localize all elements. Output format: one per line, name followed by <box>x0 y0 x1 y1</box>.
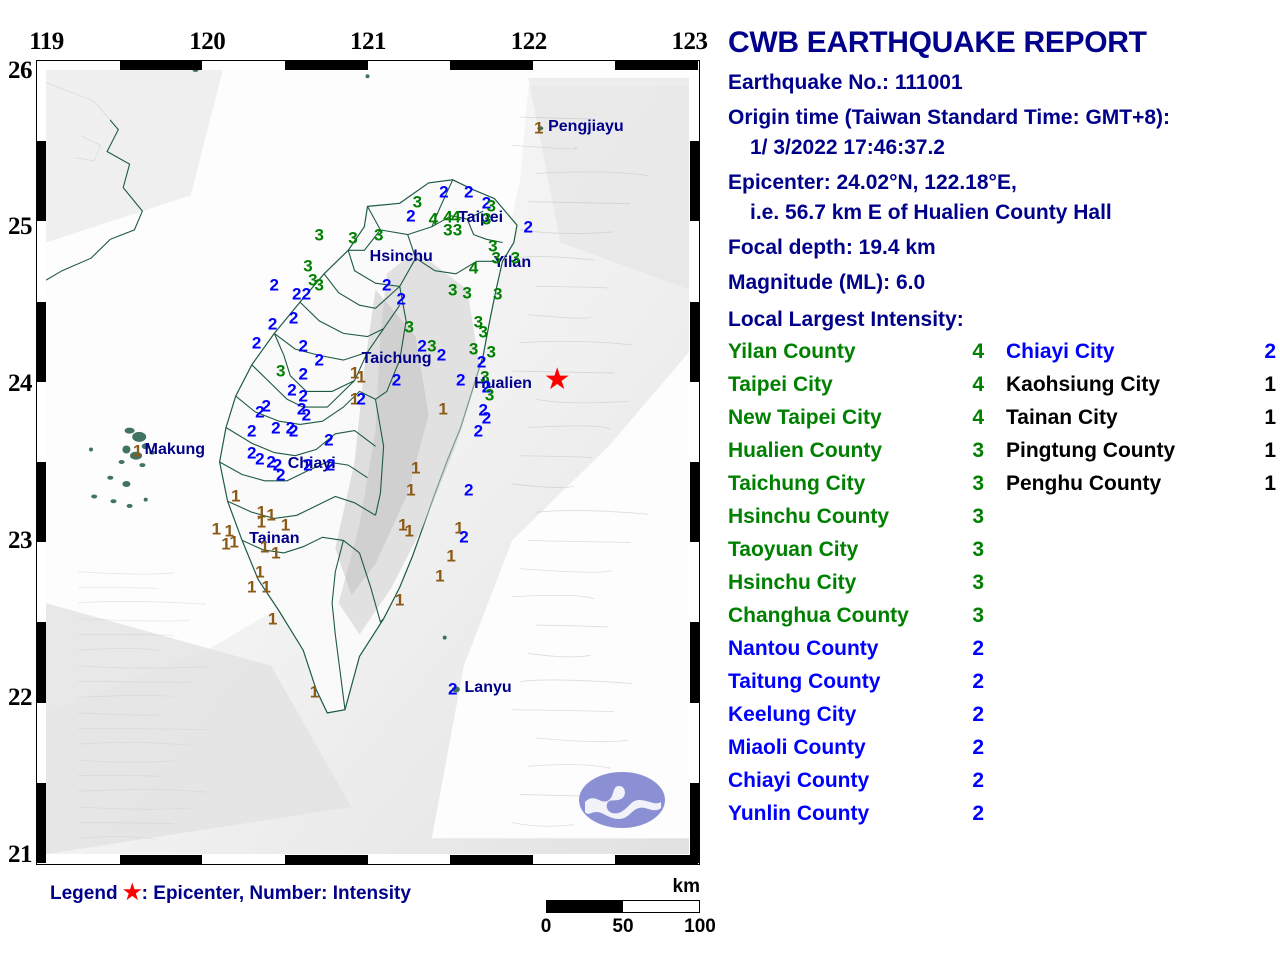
report-title: CWB EARTHQUAKE REPORT <box>728 26 1280 60</box>
x-tick-119: 119 <box>29 28 64 56</box>
band-segment <box>450 855 533 864</box>
intensity-region-name: Taoyuan City <box>728 533 858 566</box>
map-intensity-value: 2 <box>326 457 335 474</box>
band-segment <box>615 61 698 70</box>
intensity-column-right: Chiayi City2Kaohsiung City1Tainan City1P… <box>1006 335 1280 500</box>
terrain-relief <box>46 70 690 855</box>
intensity-row: Hsinchu County3 <box>728 500 988 533</box>
scale-bar-fill <box>547 901 623 912</box>
intensity-row: Hualien County3 <box>728 434 988 467</box>
place-label-makung: Makung <box>145 441 205 459</box>
place-label-lanyu: Lanyu <box>465 679 512 697</box>
intensity-region-value: 1 <box>1264 368 1280 401</box>
map-intensity-value: 2 <box>271 419 280 436</box>
map-intensity-value: 3 <box>511 250 520 267</box>
legend-description: : Epicenter, Number: Intensity <box>142 883 411 904</box>
map-intensity-value: 2 <box>417 337 426 354</box>
map-intensity-value: 2 <box>459 529 468 546</box>
intensity-region-value: 3 <box>972 566 988 599</box>
map-intensity-value: 2 <box>252 334 261 351</box>
map-intensity-value: 1 <box>257 513 266 530</box>
intensity-row: Taipei City4 <box>728 368 988 401</box>
map-intensity-value: 2 <box>448 681 457 698</box>
intensity-row: Chiayi County2 <box>728 764 988 797</box>
intensity-region-value: 2 <box>972 665 988 698</box>
intensity-region-value: 2 <box>972 632 988 665</box>
band-segment <box>690 783 699 863</box>
map-intensity-value: 2 <box>324 432 333 449</box>
map-intensity-value: 3 <box>491 250 500 267</box>
map-intensity-value: 2 <box>289 309 298 326</box>
frame-band-left <box>37 61 46 864</box>
map-intensity-value: 2 <box>276 466 285 483</box>
intensity-row: Changhua County3 <box>728 599 988 632</box>
intensity-row: Hsinchu City3 <box>728 566 988 599</box>
intensity-region-name: Yunlin County <box>728 797 869 830</box>
band-segment <box>690 141 699 221</box>
map-intensity-value: 2 <box>298 366 307 383</box>
map-intensity-value: 2 <box>474 422 483 439</box>
report-detail-lines: Earthquake No.: 111001Origin time (Taiwa… <box>728 71 1280 295</box>
map-intensity-value: 2 <box>289 422 298 439</box>
band-segment <box>37 141 46 221</box>
map-frame: PengjiayuTaipeiHsinchuYilanTaichungHuali… <box>36 60 700 865</box>
intensity-region-name: Pingtung County <box>1006 434 1175 467</box>
map-intensity-value: 3 <box>427 337 436 354</box>
map-intensity-value: 3 <box>453 221 462 238</box>
map-intensity-value: 2 <box>397 290 406 307</box>
intensity-region-name: Tainan City <box>1006 401 1118 434</box>
band-segment <box>37 302 46 382</box>
intensity-row: Pingtung County1 <box>1006 434 1280 467</box>
map-intensity-value: 3 <box>348 229 357 246</box>
map-intensity-value: 1 <box>247 579 256 596</box>
map-intensity-value: 3 <box>479 323 488 340</box>
y-tick-25: 25 <box>0 213 32 241</box>
intensity-region-value: 4 <box>972 401 988 434</box>
cwb-logo <box>579 772 665 828</box>
intensity-row: New Taipei City4 <box>728 401 988 434</box>
map-intensity-value: 1 <box>260 538 269 555</box>
intensity-row: Penghu County1 <box>1006 467 1280 500</box>
y-tick-24: 24 <box>0 370 32 398</box>
scale-unit-label: km <box>673 876 700 898</box>
map-intensity-value: 1 <box>212 521 221 538</box>
scale-tick-100: 100 <box>684 916 716 938</box>
intensity-row: Nantou County2 <box>728 632 988 665</box>
intensity-heading: Local Largest Intensity: <box>728 308 1280 332</box>
intensity-region-value: 2 <box>972 698 988 731</box>
map-intensity-value: 1 <box>229 533 238 550</box>
intensity-region-value: 3 <box>972 434 988 467</box>
scale-tick-0: 0 <box>541 916 552 938</box>
scale-tick-50: 50 <box>612 916 633 938</box>
map-intensity-value: 2 <box>298 337 307 354</box>
band-segment <box>120 855 203 864</box>
x-tick-122: 122 <box>511 28 547 56</box>
map-intensity-value: 3 <box>315 276 324 293</box>
map-intensity-value: 1 <box>446 548 455 565</box>
intensity-row: Chiayi City2 <box>1006 335 1280 368</box>
map-intensity-value: 1 <box>406 482 415 499</box>
map-intensity-value: 3 <box>448 281 457 298</box>
legend-label: Legend <box>50 883 118 904</box>
map-intensity-value: 3 <box>443 221 452 238</box>
intensity-row: Taitung County2 <box>728 665 988 698</box>
y-tick-22: 22 <box>0 684 32 712</box>
map-intensity-value: 2 <box>439 184 448 201</box>
intensity-region-value: 3 <box>972 599 988 632</box>
intensity-region-value: 3 <box>972 500 988 533</box>
map-intensity-value: 2 <box>524 218 533 235</box>
legend-star-icon: ★ <box>123 881 142 904</box>
map-intensity-value: 2 <box>270 276 279 293</box>
map-intensity-value: 2 <box>255 403 264 420</box>
intensity-region-name: Taichung City <box>728 467 865 500</box>
map-intensity-value: 1 <box>310 684 319 701</box>
report-line: i.e. 56.7 km E of Hualien County Hall <box>750 201 1280 225</box>
intensity-region-value: 3 <box>972 467 988 500</box>
map-intensity-value: 1 <box>261 579 270 596</box>
map-panel: 119120121122123 262524232221 PengjiayuTa… <box>0 0 716 960</box>
intensity-region-value: 1 <box>1264 401 1280 434</box>
intensity-row: Yilan County4 <box>728 335 988 368</box>
map-intensity-value: 1 <box>395 591 404 608</box>
y-tick-26: 26 <box>0 57 32 85</box>
map-intensity-value: 2 <box>437 347 446 364</box>
intensity-region-name: Chiayi City <box>1006 335 1115 368</box>
map-intensity-value: 3 <box>493 286 502 303</box>
map-intensity-value: 2 <box>356 391 365 408</box>
intensity-region-value: 4 <box>972 335 988 368</box>
intensity-region-value: 2 <box>972 764 988 797</box>
band-segment <box>285 855 368 864</box>
epicenter-star-icon: ★ <box>544 365 571 395</box>
band-segment <box>285 61 368 70</box>
report-line: Magnitude (ML): 6.0 <box>728 271 1280 295</box>
map-intensity-value: 2 <box>303 457 312 474</box>
intensity-region-name: Nantou County <box>728 632 878 665</box>
intensity-row: Taichung City3 <box>728 467 988 500</box>
map-intensity-value: 2 <box>247 422 256 439</box>
intensity-region-name: Hsinchu County <box>728 500 889 533</box>
map-intensity-value: 3 <box>315 226 324 243</box>
scale-bar-graphic <box>546 900 700 913</box>
map-intensity-value: 3 <box>405 319 414 336</box>
intensity-region-name: Yilan County <box>728 335 856 368</box>
intensity-region-value: 2 <box>972 731 988 764</box>
intensity-region-name: Taipei City <box>728 368 833 401</box>
map-intensity-value: 4 <box>429 210 438 227</box>
map-intensity-value: 1 <box>435 568 444 585</box>
intensity-region-value: 1 <box>1264 467 1280 500</box>
map-intensity-value: 3 <box>462 284 471 301</box>
intensity-row: Yunlin County2 <box>728 797 988 830</box>
intensity-region-name: Changhua County <box>728 599 909 632</box>
intensity-region-value: 4 <box>972 368 988 401</box>
legend-text: Legend ★: Epicenter, Number: Intensity <box>50 880 411 905</box>
map-intensity-value: 1 <box>133 443 142 460</box>
intensity-region-name: Hualien County <box>728 434 882 467</box>
band-segment <box>690 462 699 542</box>
intensity-region-value: 1 <box>1264 434 1280 467</box>
report-line: Origin time (Taiwan Standard Time: GMT+8… <box>728 106 1280 130</box>
map-intensity-value: 1 <box>405 522 414 539</box>
frame-band-bottom <box>37 855 699 864</box>
intensity-row: Keelung City2 <box>728 698 988 731</box>
intensity-region-name: Kaohsiung City <box>1006 368 1160 401</box>
intensity-region-value: 3 <box>972 533 988 566</box>
map-intensity-value: 2 <box>382 276 391 293</box>
map-intensity-value: 1 <box>411 460 420 477</box>
intensity-region-name: Hsinchu City <box>728 566 856 599</box>
intensity-row: Taoyuan City3 <box>728 533 988 566</box>
map-intensity-value: 2 <box>268 316 277 333</box>
map-intensity-value: 2 <box>464 482 473 499</box>
report-line: 1/ 3/2022 17:46:37.2 <box>750 136 1280 160</box>
map-intensity-value: 2 <box>302 286 311 303</box>
intensity-region-name: Miaoli County <box>728 731 866 764</box>
map-intensity-value: 2 <box>464 184 473 201</box>
map-intensity-value: 2 <box>302 406 311 423</box>
intensity-row: Tainan City1 <box>1006 401 1280 434</box>
map-intensity-value: 1 <box>231 488 240 505</box>
map-intensity-value: 1 <box>438 400 447 417</box>
x-tick-121: 121 <box>350 28 386 56</box>
band-segment <box>450 61 533 70</box>
place-label-pengjiayu: Pengjiayu <box>548 118 624 136</box>
intensity-column-left: Yilan County4Taipei City4New Taipei City… <box>728 335 988 830</box>
band-segment <box>37 622 46 702</box>
map-intensity-value: 4 <box>469 259 478 276</box>
band-segment <box>690 622 699 702</box>
y-tick-21: 21 <box>0 841 32 869</box>
map-intensity-value: 2 <box>315 352 324 369</box>
map-intensity-value: 2 <box>392 372 401 389</box>
map-intensity-value: 2 <box>456 372 465 389</box>
intensity-region-name: Keelung City <box>728 698 856 731</box>
intensity-row: Miaoli County2 <box>728 731 988 764</box>
x-tick-123: 123 <box>672 28 708 56</box>
map-intensity-value: 3 <box>374 226 383 243</box>
frame-band-right <box>690 61 699 864</box>
map-intensity-value: 1 <box>281 516 290 533</box>
frame-band-top <box>37 61 699 70</box>
report-line: Focal depth: 19.4 km <box>728 236 1280 260</box>
place-label-taipei: Taipei <box>458 209 503 227</box>
map-legend-row: Legend ★: Epicenter, Number: Intensity k… <box>0 880 716 950</box>
map-intensity-value: 3 <box>482 210 491 227</box>
band-segment <box>120 61 203 70</box>
map-intensity-value: 1 <box>534 120 543 137</box>
intensity-region-value: 2 <box>972 797 988 830</box>
intensity-region-name: Chiayi County <box>728 764 869 797</box>
intensity-region-name: Taitung County <box>728 665 880 698</box>
map-intensity-value: 3 <box>487 344 496 361</box>
band-segment <box>690 302 699 382</box>
y-tick-23: 23 <box>0 527 32 555</box>
map-intensity-value: 2 <box>255 450 264 467</box>
report-line: Epicenter: 24.02°N, 122.18°E, <box>728 171 1280 195</box>
map-intensity-value: 1 <box>268 610 277 627</box>
intensity-region-value: 2 <box>1264 335 1280 368</box>
map-intensity-value: 1 <box>271 544 280 561</box>
map-intensity-value: 3 <box>276 363 285 380</box>
band-segment <box>37 783 46 863</box>
intensity-region-name: New Taipei City <box>728 401 882 434</box>
intensity-region-name: Penghu County <box>1006 467 1161 500</box>
intensity-row: Kaohsiung City1 <box>1006 368 1280 401</box>
map-intensity-value: 2 <box>406 207 415 224</box>
map-canvas: PengjiayuTaipeiHsinchuYilanTaichungHuali… <box>46 70 690 855</box>
report-panel: CWB EARTHQUAKE REPORT Earthquake No.: 11… <box>728 26 1280 335</box>
x-tick-120: 120 <box>189 28 225 56</box>
map-intensity-value: 1 <box>356 369 365 386</box>
place-label-hsinchu: Hsinchu <box>370 248 433 266</box>
band-segment <box>37 462 46 542</box>
report-line: Earthquake No.: 111001 <box>728 71 1280 95</box>
map-intensity-value: 1 <box>266 507 275 524</box>
map-intensity-value: 2 <box>287 381 296 398</box>
band-segment <box>615 855 698 864</box>
map-intensity-value: 2 <box>292 286 301 303</box>
